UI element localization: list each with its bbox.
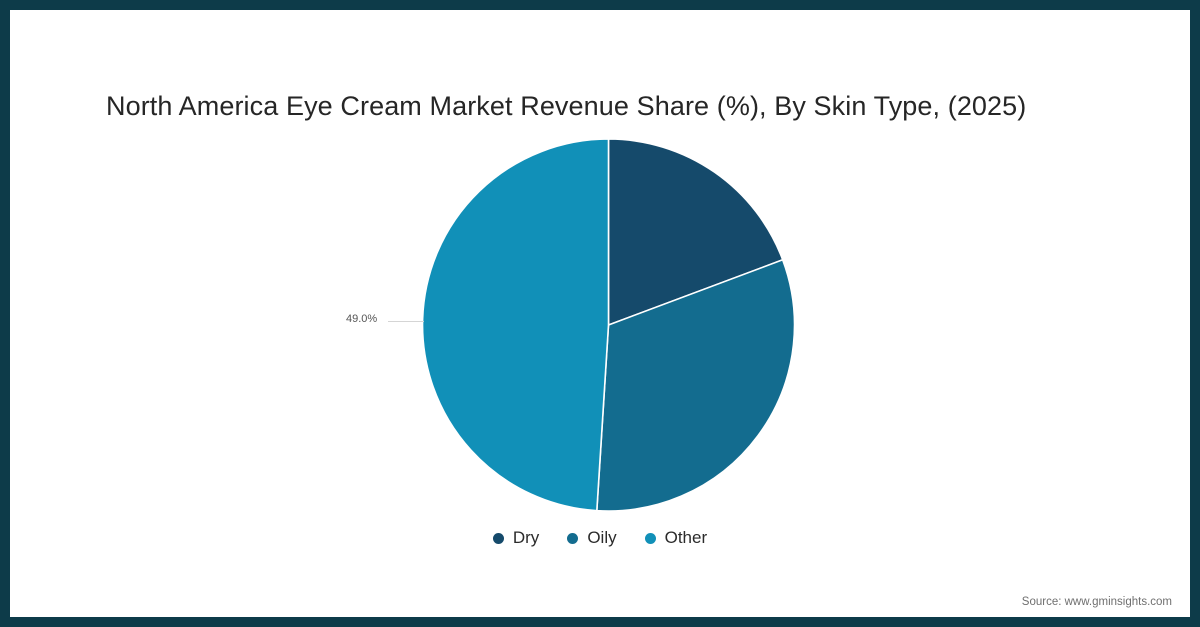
legend-item-dry[interactable]: Dry [493,528,539,548]
chart-page: North America Eye Cream Market Revenue S… [0,0,1200,627]
legend-swatch-dry-icon [493,533,504,544]
legend-item-other[interactable]: Other [645,528,708,548]
source-attribution: Source: www.gminsights.com [1022,596,1172,608]
pie-slice-other[interactable] [423,139,609,511]
plot-area: 49.0% Dry Oily Other [10,10,1190,617]
leader-line-other [388,321,424,322]
pie-slices [423,139,795,511]
chart-legend: Dry Oily Other [10,528,1190,548]
legend-label-other: Other [665,528,708,548]
legend-label-dry: Dry [513,528,539,548]
legend-swatch-oily-icon [567,533,578,544]
legend-item-oily[interactable]: Oily [567,528,616,548]
legend-swatch-other-icon [645,533,656,544]
pie-chart [400,120,820,520]
legend-label-oily: Oily [587,528,616,548]
slice-value-label-other: 49.0% [346,313,377,325]
